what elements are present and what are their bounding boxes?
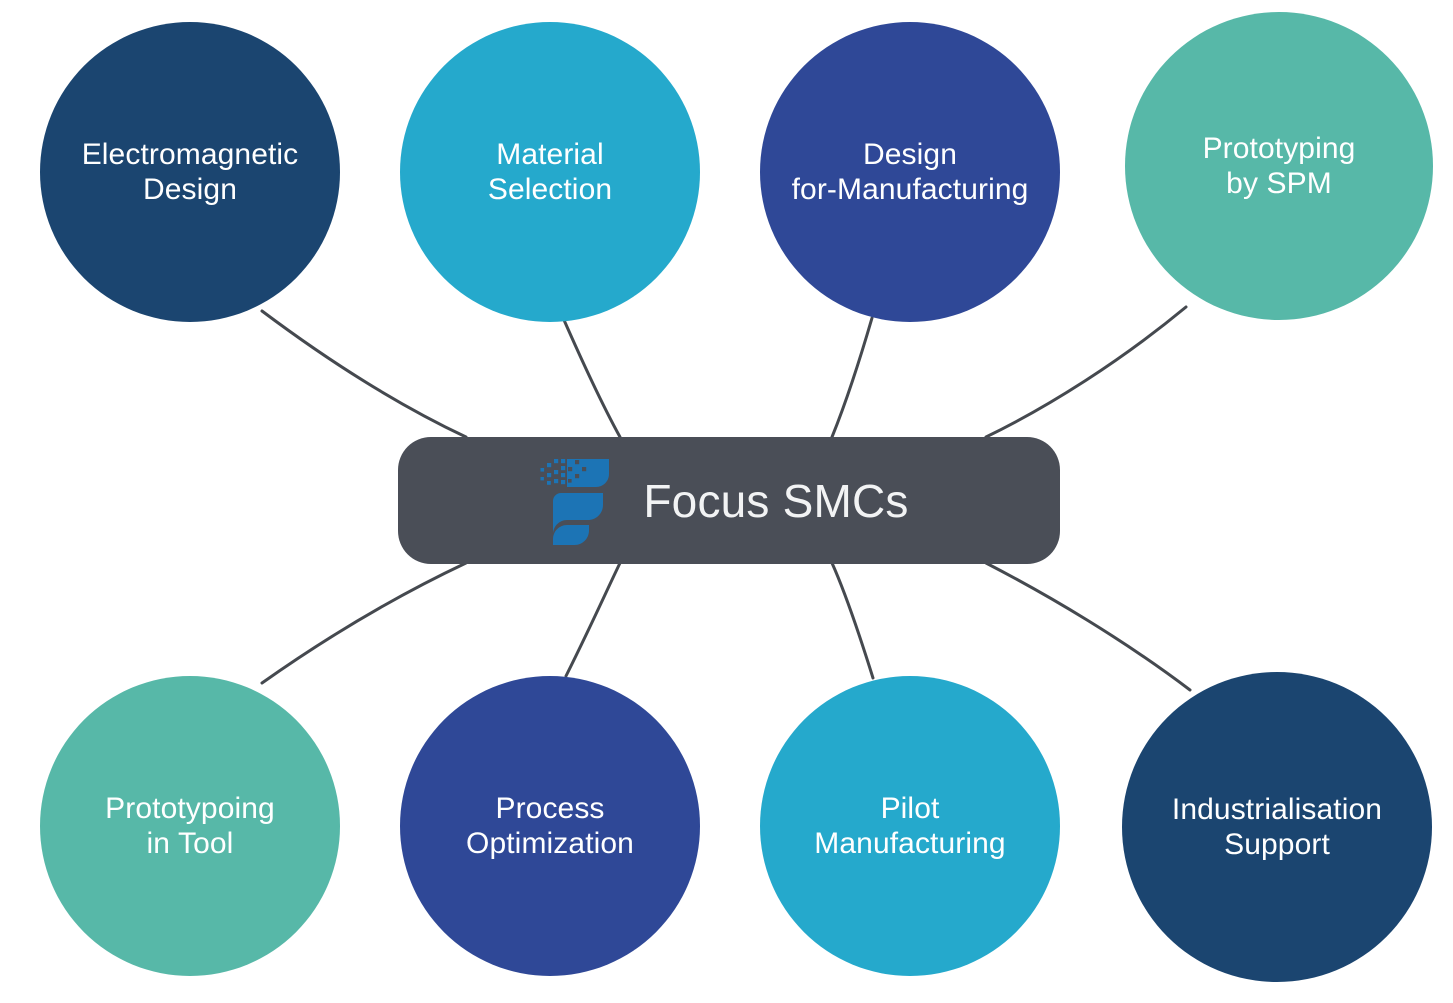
node-label: Material Selection <box>478 137 622 208</box>
connector-line-design-for-manufacturing <box>832 318 872 437</box>
center-hub[interactable]: Focus SMCs <box>398 437 1060 564</box>
node-label: Pilot Manufacturing <box>804 791 1015 862</box>
node-material-selection[interactable]: Material Selection <box>400 22 700 322</box>
node-label: Electromagnetic Design <box>72 137 309 208</box>
node-prototyping-by-spm[interactable]: Prototyping by SPM <box>1125 12 1433 320</box>
connector-line-pilot-manufacturing <box>832 563 873 678</box>
node-industrialisation-support[interactable]: Industrialisation Support <box>1122 672 1432 982</box>
node-label: Industrialisation Support <box>1162 792 1392 863</box>
diagram-canvas: Electromagnetic Design Material Selectio… <box>0 0 1453 1003</box>
node-label: Prototypoing in Tool <box>95 791 285 862</box>
center-hub-content: Focus SMCs <box>537 455 908 547</box>
node-prototypoing-in-tool[interactable]: Prototypoing in Tool <box>40 676 340 976</box>
center-hub-title: Focus SMCs <box>643 474 908 528</box>
connector-line-industrialisation-support <box>986 563 1190 690</box>
node-label: Design for-Manufacturing <box>782 137 1039 208</box>
connector-line-electromagnetic-design <box>262 311 466 437</box>
node-pilot-manufacturing[interactable]: Pilot Manufacturing <box>760 676 1060 976</box>
node-design-for-manufacturing[interactable]: Design for-Manufacturing <box>760 22 1060 322</box>
connector-line-prototypoing-in-tool <box>262 563 466 683</box>
connector-line-material-selection <box>564 320 620 437</box>
node-electromagnetic-design[interactable]: Electromagnetic Design <box>40 22 340 322</box>
connector-line-prototyping-by-spm <box>986 307 1186 437</box>
node-label: Process Optimization <box>456 791 644 862</box>
node-process-optimization[interactable]: Process Optimization <box>400 676 700 976</box>
focus-f-logo-icon <box>537 455 617 547</box>
node-label: Prototyping by SPM <box>1193 131 1366 202</box>
connector-line-process-optimization <box>566 563 620 676</box>
